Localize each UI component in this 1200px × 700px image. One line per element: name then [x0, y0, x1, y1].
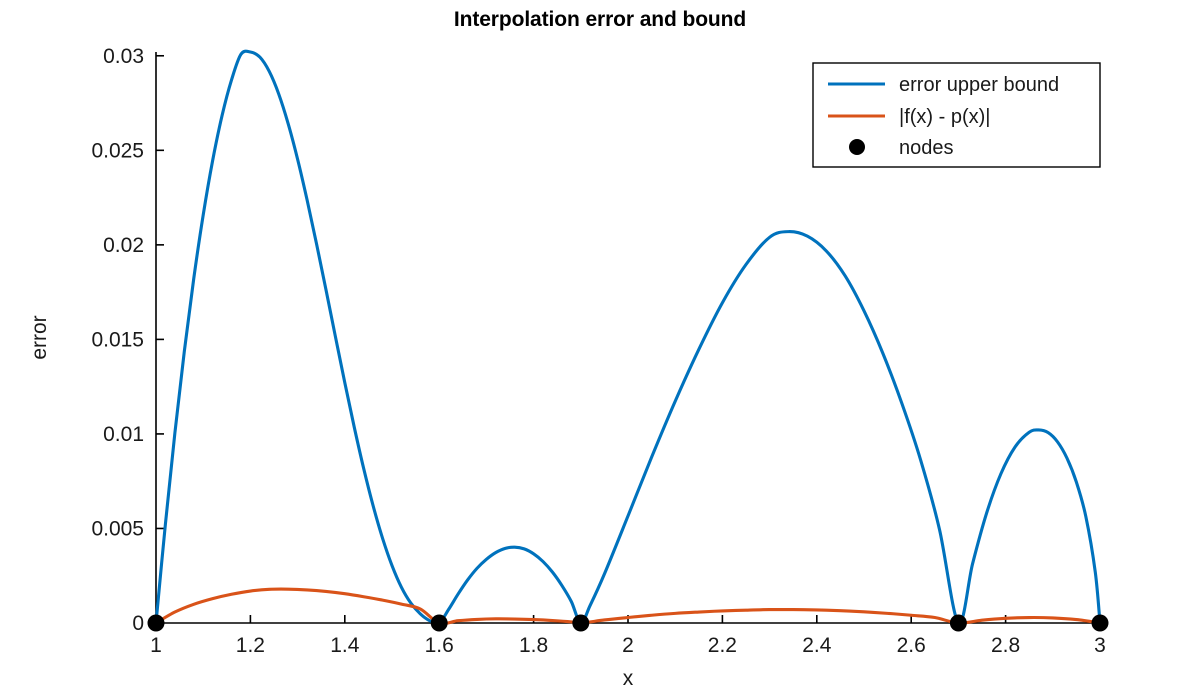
legend[interactable]: error upper bound|f(x) - p(x)|nodes [813, 63, 1100, 167]
node-marker [431, 615, 448, 632]
legend-label: nodes [899, 137, 954, 159]
x-tick-label: 1.6 [425, 634, 454, 657]
x-tick-label: 2 [622, 634, 634, 657]
y-tick-label: 0.005 [91, 517, 144, 540]
y-tick-label: 0.02 [103, 234, 144, 257]
x-tick-label: 3 [1094, 634, 1106, 657]
node-marker [148, 615, 165, 632]
y-tick-label: 0.025 [91, 139, 144, 162]
figure-canvas: Interpolation error and bound 00.0050.01… [0, 0, 1200, 700]
y-axis-label: error [28, 315, 51, 359]
x-tick-label: 2.4 [802, 634, 832, 657]
legend-label: error upper bound [899, 74, 1059, 96]
x-tick-label: 1 [150, 634, 162, 657]
node-marker [1092, 615, 1109, 632]
x-tick-label: 1.2 [236, 634, 265, 657]
x-tick-label: 2.8 [991, 634, 1020, 657]
y-tick-label: 0.03 [103, 45, 144, 68]
x-tick-label: 2.2 [708, 634, 737, 657]
node-marker [572, 615, 589, 632]
legend-marker-swatch [849, 139, 865, 155]
chart-plot: 00.0050.010.0150.020.0250.0311.21.41.61.… [0, 0, 1200, 700]
y-tick-label: 0.015 [91, 328, 144, 351]
x-tick-label: 2.6 [897, 634, 926, 657]
x-tick-label: 1.8 [519, 634, 548, 657]
y-tick-label: 0.01 [103, 423, 144, 446]
x-tick-label: 1.4 [330, 634, 360, 657]
legend-label: |f(x) - p(x)| [899, 106, 990, 128]
y-tick-label: 0 [132, 612, 144, 635]
node-marker [950, 615, 967, 632]
x-axis-label: x [623, 667, 634, 690]
